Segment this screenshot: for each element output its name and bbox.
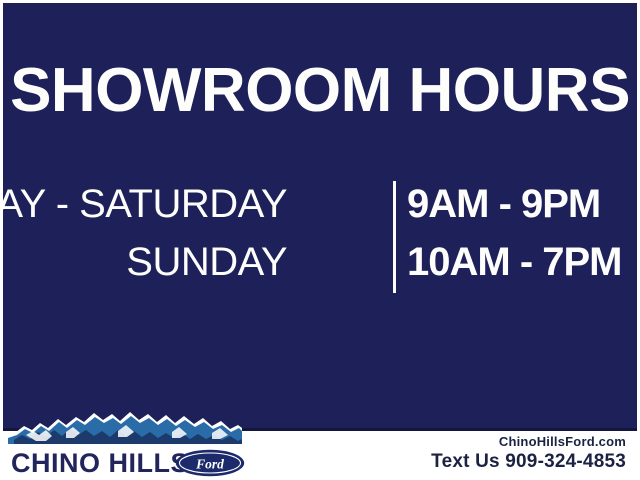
hours-column-divider <box>393 181 396 293</box>
mountain-range-icon <box>6 408 242 450</box>
hours-time-value: 10AM - 7PM <box>407 237 622 287</box>
hours-list: MONDAY - SATURDAY 9AM - 9PM SUNDAY 10AM … <box>3 179 637 295</box>
phone-number[interactable]: Text Us 909-324-4853 <box>431 450 626 473</box>
hours-row: SUNDAY 10AM - 7PM <box>3 237 637 295</box>
showroom-hours-ad: SHOWROOM HOURS MONDAY - SATURDAY 9AM - 9… <box>0 0 640 480</box>
hours-time-value: 9AM - 9PM <box>407 179 600 229</box>
ford-wordmark: Ford <box>195 456 224 471</box>
ford-logo-icon: Ford <box>175 449 245 477</box>
contact-block: ChinoHillsFord.com Text Us 909-324-4853 <box>431 433 626 473</box>
hours-day-label: SUNDAY <box>126 237 287 287</box>
page-title: SHOWROOM HOURS <box>3 60 637 122</box>
hours-day-label: MONDAY - SATURDAY <box>3 179 287 229</box>
hours-panel: SHOWROOM HOURS MONDAY - SATURDAY 9AM - 9… <box>3 3 637 431</box>
dealer-wordmark: CHINO HILLS <box>11 450 189 477</box>
hours-row: MONDAY - SATURDAY 9AM - 9PM <box>3 179 637 237</box>
website-link[interactable]: ChinoHillsFord.com <box>431 433 626 450</box>
